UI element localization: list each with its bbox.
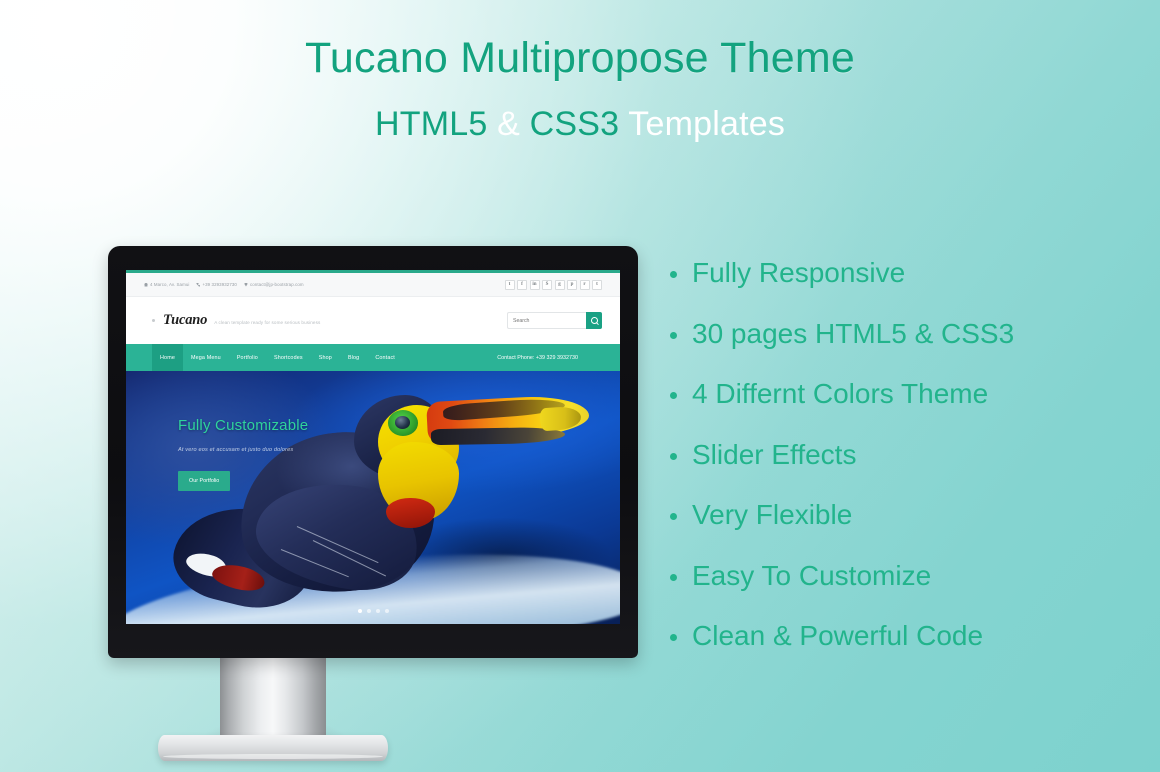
twitter-icon[interactable]: t: [505, 280, 515, 290]
hero-title: Fully Customizable: [178, 417, 308, 434]
skype-icon[interactable]: S: [542, 280, 552, 290]
slider-dot-1[interactable]: [358, 609, 362, 613]
home-icon: [144, 283, 148, 287]
nav-item-contact[interactable]: Contact: [367, 344, 403, 371]
topbar-email[interactable]: contact@jp-bootstrap.com: [244, 282, 304, 287]
nav-item-portfolio[interactable]: Portfolio: [229, 344, 266, 371]
pinterest-icon[interactable]: p: [567, 280, 577, 290]
feature-item: 30 pages HTML5 & CSS3: [668, 304, 1088, 365]
search-input[interactable]: [507, 312, 586, 329]
site-topbar: 4 Marco, Av. Samui +39 3293932730 contac…: [126, 273, 620, 297]
hero-subtitle: At vero eos et accusam et justo duo dolo…: [178, 447, 308, 453]
topbar-address: 4 Marco, Av. Samui: [144, 282, 189, 287]
nav-item-shortcodes[interactable]: Shortcodes: [266, 344, 311, 371]
monitor-stand-neck: [220, 655, 326, 743]
linkedin-icon[interactable]: in: [530, 280, 540, 290]
facebook-icon[interactable]: f: [517, 280, 527, 290]
logo-tagline: A clean template ready for some serious …: [214, 320, 320, 325]
nav-item-shop[interactable]: Shop: [311, 344, 340, 371]
search-button[interactable]: [586, 312, 602, 329]
subtitle-css3: CSS3: [530, 105, 620, 143]
slider-dot-2[interactable]: [367, 609, 371, 613]
page-title: Tucano Multipropose Theme: [0, 34, 1160, 83]
logo-text: Tucano: [163, 312, 207, 329]
topbar-phone-text: +39 3293932730: [202, 282, 237, 287]
nav-contact-phone: Contact Phone: +39 329 3932730: [497, 344, 620, 371]
slider-dot-3[interactable]: [376, 609, 380, 613]
feature-item: Very Flexible: [668, 485, 1088, 546]
nav-item-blog[interactable]: Blog: [340, 344, 367, 371]
feature-item: 4 Differnt Colors Theme: [668, 364, 1088, 425]
feature-item: Clean & Powerful Code: [668, 606, 1088, 667]
site-navigation: Home Mega Menu Portfolio Shortcodes Shop…: [126, 344, 620, 371]
monitor-mockup: 4 Marco, Av. Samui +39 3293932730 contac…: [108, 246, 638, 658]
slider-dot-4[interactable]: [385, 609, 389, 613]
toucan-beak-tip: [539, 405, 581, 431]
monitor-screen: 4 Marco, Av. Samui +39 3293932730 contac…: [126, 270, 620, 624]
nav-item-mega-menu[interactable]: Mega Menu: [183, 344, 229, 371]
site-search: [507, 312, 602, 329]
page-subtitle: HTML5 & CSS3 Templates: [0, 105, 1160, 144]
subtitle-templates: Templates: [619, 105, 785, 143]
tumblr-icon[interactable]: t: [592, 280, 602, 290]
logo-dot-icon: [152, 319, 155, 322]
toucan-eye: [395, 416, 410, 429]
promo-headings: Tucano Multipropose Theme HTML5 & CSS3 T…: [0, 0, 1160, 145]
site-logo[interactable]: Tucano A clean template ready for some s…: [152, 312, 320, 329]
rss-icon[interactable]: r: [580, 280, 590, 290]
our-portfolio-button[interactable]: Our Portfolio: [178, 471, 230, 491]
hero-slider-dots: [126, 609, 620, 613]
topbar-email-text: contact@jp-bootstrap.com: [250, 282, 304, 287]
subtitle-html5: HTML5: [375, 105, 487, 143]
search-icon: [591, 317, 598, 324]
topbar-social-links: t f in S g p r t: [505, 280, 603, 290]
monitor-stand-base: [158, 735, 388, 761]
topbar-contact-info: 4 Marco, Av. Samui +39 3293932730 contac…: [144, 282, 304, 287]
google-plus-icon[interactable]: g: [555, 280, 565, 290]
feature-item: Slider Effects: [668, 425, 1088, 486]
topbar-phone[interactable]: +39 3293932730: [196, 282, 237, 287]
topbar-address-text: 4 Marco, Av. Samui: [150, 282, 189, 287]
hero-copy: Fully Customizable At vero eos et accusa…: [178, 417, 308, 491]
phone-icon: [196, 283, 200, 287]
subtitle-amp: &: [487, 105, 529, 143]
feature-list: Fully Responsive 30 pages HTML5 & CSS3 4…: [668, 243, 1088, 667]
hero-slider: Fully Customizable At vero eos et accusa…: [126, 371, 620, 624]
feature-item: Fully Responsive: [668, 243, 1088, 304]
map-pin-icon: [244, 283, 248, 287]
site-logo-bar: Tucano A clean template ready for some s…: [126, 297, 620, 344]
nav-item-home[interactable]: Home: [152, 344, 183, 371]
feature-item: Easy To Customize: [668, 546, 1088, 607]
